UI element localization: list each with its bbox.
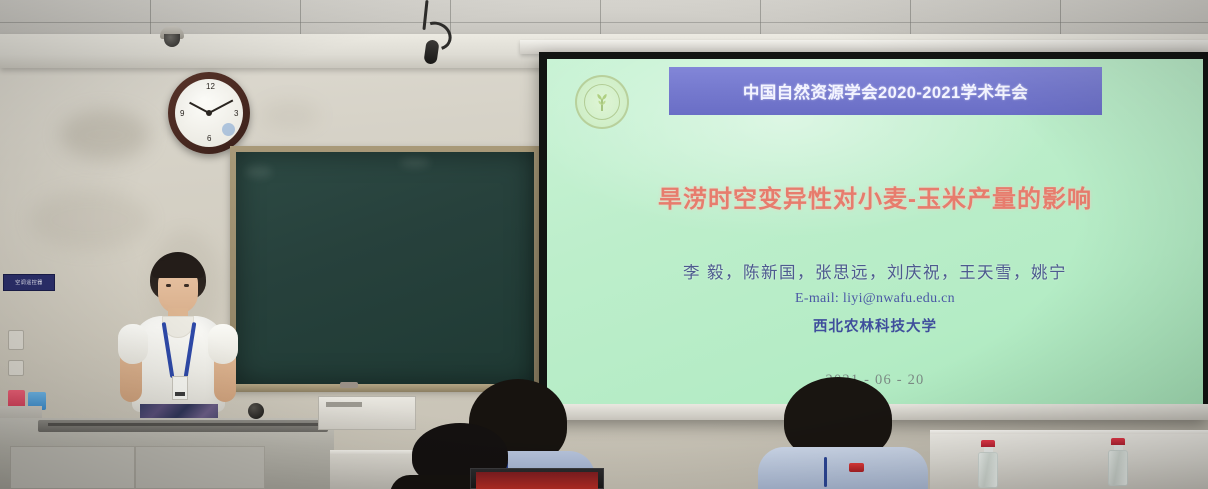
blackboard [230, 146, 540, 390]
wall-switch[interactable] [8, 360, 24, 376]
bottle-body [978, 452, 998, 488]
wall-stain [30, 190, 150, 250]
conference-banner-text: 中国自然资源学会2020-2021学术年会 [743, 79, 1028, 103]
side-table [930, 434, 1208, 489]
bottle-body [1108, 450, 1128, 486]
seal-inner-ring [584, 84, 620, 120]
chalk-tray-clip [340, 382, 358, 388]
presenter-left-sleeve [118, 324, 148, 364]
bottle-cap [1111, 438, 1125, 445]
slide-institution: 西北农林科技大学 [547, 315, 1203, 336]
audience-member-3-lanyard [824, 457, 827, 487]
wheat-icon [591, 91, 613, 113]
water-bottle[interactable] [1108, 438, 1128, 486]
presenter [110, 252, 245, 427]
clock-sub-dial [222, 123, 235, 136]
presenter-eye [184, 284, 189, 287]
blackboard-surface [236, 152, 534, 384]
podium-panel [135, 446, 265, 489]
laser-pointer[interactable] [849, 463, 864, 472]
presenter-eye [166, 284, 171, 287]
bottle-cap [981, 440, 995, 447]
slide-title: 旱涝时空变异性对小麦-玉米产量的影响 [547, 179, 1203, 214]
clock-face: 12 3 6 9 [175, 79, 243, 147]
podium-knob[interactable] [248, 403, 264, 419]
podium-rail-groove [48, 423, 318, 426]
laptop-screen [476, 472, 598, 489]
wall-clock: 12 3 6 9 [168, 72, 250, 154]
projector-screen: 中国自然资源学会2020-2021学术年会 旱涝时空变异性对小麦-玉米产量的影响… [539, 52, 1208, 419]
list-item [758, 377, 928, 489]
podium-rail [38, 420, 328, 432]
presenter-name-badge [172, 376, 188, 400]
podium-equipment-slot [326, 402, 362, 407]
wall-sign-text: 空调遥控器 [15, 279, 43, 286]
water-bottle[interactable] [978, 440, 998, 488]
podium-panel [10, 446, 135, 489]
ceiling-tile-line [0, 22, 1208, 23]
clock-numeral: 9 [180, 109, 184, 118]
conference-banner: 中国自然资源学会2020-2021学术年会 [669, 67, 1102, 115]
chalk-smudge [246, 166, 272, 178]
wall-stain [60, 110, 150, 160]
presentation-slide: 中国自然资源学会2020-2021学术年会 旱涝时空变异性对小麦-玉米产量的影响… [547, 59, 1203, 411]
clock-numeral: 3 [234, 109, 238, 118]
wall-sign-plate: 空调遥控器 [3, 274, 55, 291]
society-seal-logo-icon [575, 75, 629, 129]
classroom-presentation-photo: 空调遥控器 12 3 6 9 [0, 0, 1208, 489]
wall-stain [260, 100, 320, 130]
slide-authors: 李 毅，陈新国，张思远，刘庆祝，王天雪，姚宁 [547, 259, 1203, 283]
chalk-smudge [400, 158, 430, 168]
presenter-right-sleeve [208, 324, 238, 364]
presenter-fringe [152, 260, 204, 278]
clock-minute-hand [209, 99, 234, 113]
clock-numeral: 12 [206, 82, 215, 91]
clock-center-pin [206, 110, 212, 116]
wall-outlet[interactable] [8, 330, 24, 350]
clock-numeral: 6 [207, 134, 211, 143]
slide-email: E-mail: liyi@nwafu.edu.cn [547, 291, 1203, 307]
audience-member-3-body [758, 447, 928, 489]
